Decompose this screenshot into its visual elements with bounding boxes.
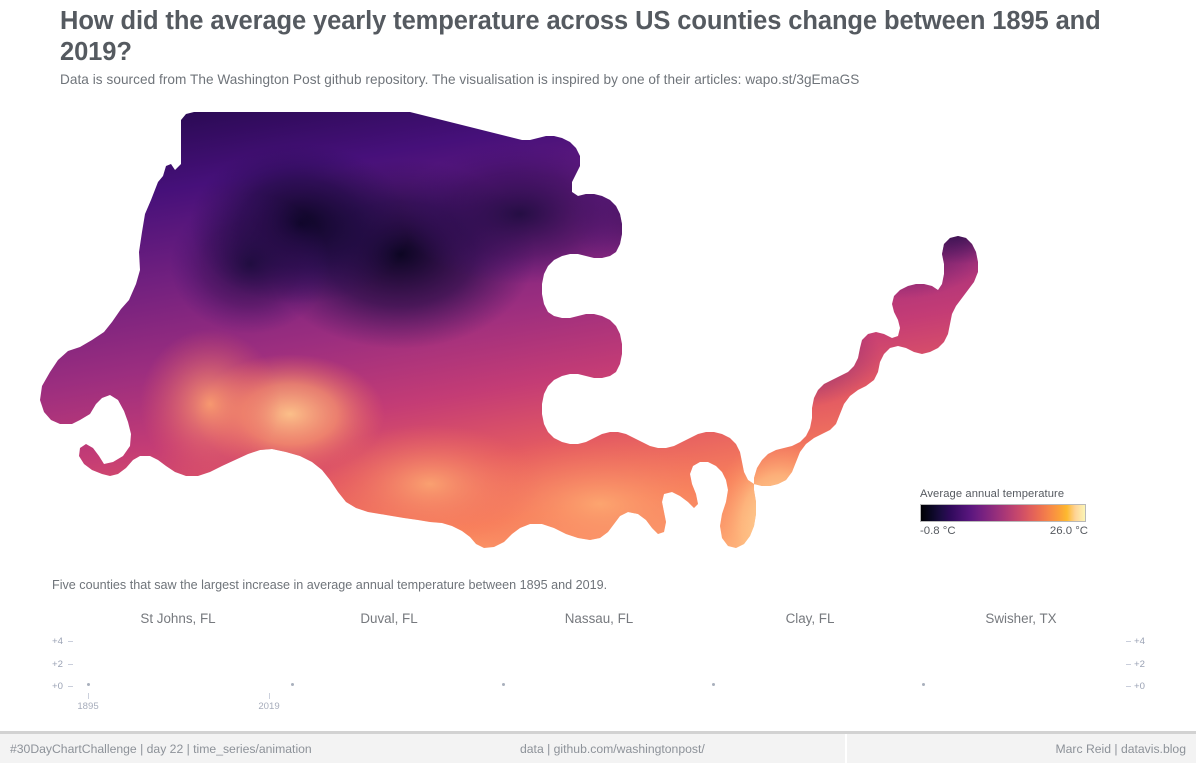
- footer-bar: #30DayChartChallenge | day 22 | time_ser…: [0, 731, 1196, 763]
- y-tick-left-2: [68, 664, 73, 665]
- footer-divider: [845, 734, 847, 763]
- map-legend: Average annual temperature -0.8 °C 26.0 …: [920, 488, 1088, 540]
- data-point-duval: [291, 683, 294, 686]
- data-point-st-johns: [87, 683, 90, 686]
- data-point-nassau: [502, 683, 505, 686]
- small-multiples-section: Five counties that saw the largest incre…: [0, 575, 1196, 720]
- legend-title: Average annual temperature: [920, 488, 1088, 500]
- legend-tick-labels: -0.8 °C 26.0 °C: [920, 525, 1088, 540]
- x-tick-mark-2019: [269, 693, 270, 699]
- page-title: How did the average yearly temperature a…: [60, 6, 1140, 68]
- legend-max-label: 26.0 °C: [1050, 525, 1088, 537]
- us-county-choropleth-map: Average annual temperature -0.8 °C 26.0 …: [0, 104, 1196, 569]
- y-axis-label-left-2: +2: [52, 659, 63, 670]
- y-tick-right-2: [1126, 664, 1131, 665]
- legend-colorbar: [920, 504, 1086, 522]
- panel-title-swisher: Swisher, TX: [985, 611, 1056, 626]
- great-lakes: [656, 240, 882, 356]
- x-tick-label-2019: 2019: [258, 701, 279, 712]
- legend-min-label: -0.8 °C: [920, 525, 956, 537]
- coastal-bays: [862, 380, 888, 426]
- y-tick-right-4: [1126, 641, 1131, 642]
- data-point-swisher: [922, 683, 925, 686]
- footer-author[interactable]: Marc Reid | datavis.blog: [1055, 742, 1186, 756]
- footer-data-source[interactable]: data | github.com/washingtonpost/: [520, 742, 705, 756]
- y-axis-label-left-4: +4: [52, 636, 63, 647]
- panel-title-st-johns: St Johns, FL: [140, 611, 215, 626]
- y-axis-label-right-4: +4: [1134, 636, 1145, 647]
- visualisation-page: How did the average yearly temperature a…: [0, 0, 1196, 763]
- page-subtitle: Data is sourced from The Washington Post…: [60, 72, 1160, 87]
- footer-challenge-text: #30DayChartChallenge | day 22 | time_ser…: [10, 742, 312, 756]
- panel-title-nassau: Nassau, FL: [565, 611, 633, 626]
- x-tick-label-1895: 1895: [77, 701, 98, 712]
- y-tick-right-0: [1126, 686, 1131, 687]
- y-axis-label-left-0: +0: [52, 681, 63, 692]
- y-tick-left-0: [68, 686, 73, 687]
- y-axis-label-right-2: +2: [1134, 659, 1145, 670]
- y-tick-left-4: [68, 641, 73, 642]
- panel-title-duval: Duval, FL: [360, 611, 417, 626]
- y-axis-label-right-0: +0: [1134, 681, 1145, 692]
- data-point-clay: [712, 683, 715, 686]
- x-tick-mark-1895: [88, 693, 89, 699]
- small-multiples-caption: Five counties that saw the largest incre…: [52, 578, 607, 592]
- panel-title-clay: Clay, FL: [786, 611, 835, 626]
